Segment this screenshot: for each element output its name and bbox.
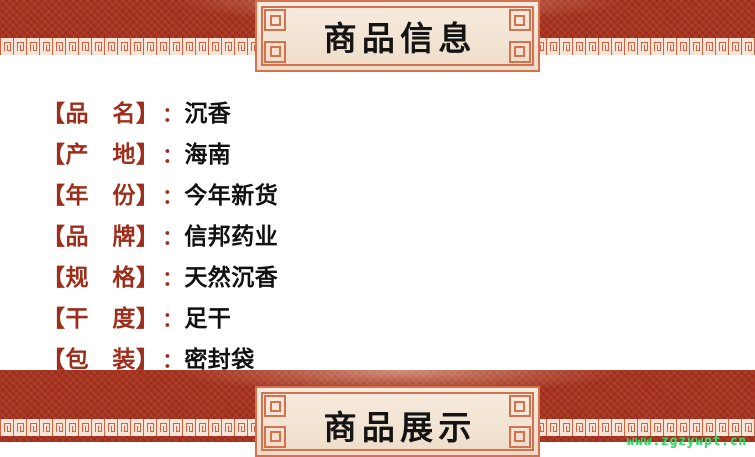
info-value: 沉香 [184,94,231,128]
meander-key-icon [728,38,741,55]
meander-key-icon [130,419,143,436]
meander-key-icon [208,38,221,55]
meander-key-icon [598,419,611,436]
meander-key-icon [169,38,182,55]
meander-key-icon [13,38,26,55]
meander-key-icon [195,419,208,436]
info-separator: ： [159,180,184,209]
meander-key-icon [234,38,247,55]
meander-key-icon [559,419,572,436]
product-info-banner-page: 商品信息 【品 名】 ： 沉香 【产 地】 ： 海南 【年 份】 ： 今年新货 … [0,0,755,457]
meander-key-icon [676,38,689,55]
info-label: 【包 装】 [42,340,159,374]
meander-key-icon [663,38,676,55]
meander-key-icon [130,38,143,55]
info-row: 【产 地】 ： 海南 [42,135,231,169]
meander-key-icon [65,419,78,436]
info-row: 【品 牌】 ： 信邦药业 [42,217,278,251]
meander-key-icon [585,419,598,436]
meander-key-icon [572,419,585,436]
info-separator: ： [159,98,184,127]
meander-key-icon [221,419,234,436]
meander-key-icon [637,38,650,55]
meander-key-icon [104,38,117,55]
meander-key-icon [182,38,195,55]
meander-key-icon [52,38,65,55]
meander-key-icon [117,419,130,436]
info-label: 【年 份】 [42,176,159,210]
bottom-banner-title: 商品展示 [257,388,538,455]
meander-key-icon [78,38,91,55]
meander-key-icon [572,38,585,55]
info-separator: ： [159,262,184,291]
meander-key-icon [221,38,234,55]
meander-key-icon [156,419,169,436]
info-value: 今年新货 [184,176,278,210]
info-separator: ： [159,303,184,332]
info-value: 密封袋 [184,340,254,374]
info-separator: ： [159,139,184,168]
info-label: 【产 地】 [42,135,159,169]
meander-key-icon [702,38,715,55]
meander-key-icon [156,38,169,55]
meander-key-icon [624,38,637,55]
meander-key-icon [715,38,728,55]
meander-key-icon [78,419,91,436]
info-label: 【规 格】 [42,258,159,292]
meander-key-icon [91,38,104,55]
info-separator: ： [159,344,184,373]
info-row: 【规 格】 ： 天然沉香 [42,258,278,292]
info-label: 【干 度】 [42,299,159,333]
meander-key-icon [91,419,104,436]
meander-key-icon [208,419,221,436]
meander-key-icon [13,419,26,436]
meander-key-icon [52,419,65,436]
meander-key-icon [611,419,624,436]
meander-key-icon [0,419,13,436]
product-info-list: 【品 名】 ： 沉香 【产 地】 ： 海南 【年 份】 ： 今年新货 【品 牌】… [0,80,755,370]
meander-key-icon [195,38,208,55]
meander-key-icon [546,38,559,55]
meander-key-icon [182,419,195,436]
meander-key-icon [104,419,117,436]
info-value: 海南 [184,135,231,169]
meander-key-icon [117,38,130,55]
info-row: 【年 份】 ： 今年新货 [42,176,278,210]
info-value: 天然沉香 [184,258,278,292]
meander-key-icon [26,419,39,436]
meander-key-icon [143,419,156,436]
meander-key-icon [546,419,559,436]
meander-key-icon [65,38,78,55]
top-banner-title: 商品信息 [257,2,538,70]
meander-key-icon [39,38,52,55]
top-banner-plaque: 商品信息 [255,0,540,72]
meander-key-icon [234,419,247,436]
info-separator: ： [159,221,184,250]
info-value: 足干 [184,299,231,333]
info-row: 【包 装】 ： 密封袋 [42,340,255,374]
meander-key-icon [585,38,598,55]
meander-key-icon [689,38,702,55]
meander-key-icon [26,38,39,55]
meander-key-icon [559,38,572,55]
info-label: 【品 名】 [42,94,159,128]
info-value: 信邦药业 [184,217,278,251]
meander-key-icon [39,419,52,436]
meander-key-icon [0,38,13,55]
site-watermark: www.zgzywpt.cn [627,434,748,449]
meander-key-icon [598,38,611,55]
meander-key-icon [741,38,754,55]
info-row: 【干 度】 ： 足干 [42,299,231,333]
info-label: 【品 牌】 [42,217,159,251]
meander-key-icon [611,38,624,55]
meander-key-icon [650,38,663,55]
meander-key-icon [143,38,156,55]
meander-key-icon [169,419,182,436]
bottom-banner-plaque: 商品展示 [255,386,540,457]
info-row: 【品 名】 ： 沉香 [42,94,231,128]
